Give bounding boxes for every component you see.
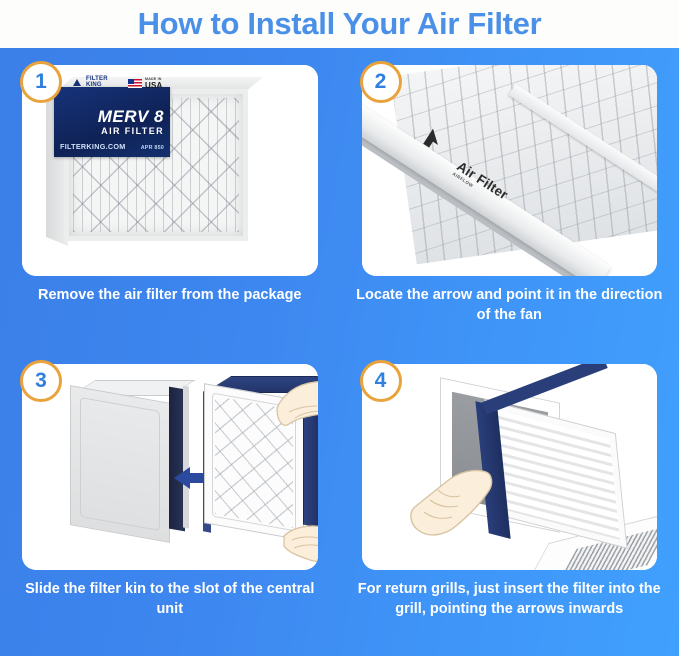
steps-grid: FILTER KING MADE IN USA ME [0, 48, 679, 656]
step-4: 4 For return grills, just insert the fil… [340, 352, 679, 656]
page-title: How to Install Your Air Filter [138, 6, 542, 42]
website-text: FILTERKING.COM [60, 142, 126, 151]
step-3-image [22, 364, 318, 570]
step-1-image: FILTER KING MADE IN USA ME [22, 65, 318, 276]
central-unit-illustration [70, 380, 190, 540]
brand-line-1: FILTER [86, 76, 108, 82]
step-4-card [362, 364, 658, 570]
step-4-number-badge: 4 [360, 360, 402, 402]
step-3-caption: Slide the filter kin to the slot of the … [14, 580, 326, 619]
unit-front-face [70, 385, 170, 543]
step-3-number-badge: 3 [20, 360, 62, 402]
apr-rating-text: APR 850 [141, 145, 164, 151]
made-in-usa-badge: MADE IN USA [128, 78, 163, 90]
brand-name: FILTER KING [86, 76, 108, 89]
filter-king-logo: FILTER KING [72, 76, 108, 89]
step-1: FILTER KING MADE IN USA ME [0, 48, 340, 352]
merv-label: MERV 8 AIR FILTER FILTERKING.COM APR 850 [54, 87, 170, 157]
step-1-number-badge: 1 [20, 61, 62, 103]
hand-inserting-filter-illustration [408, 462, 494, 542]
return-grill-illustration [490, 418, 635, 543]
usa-flag-icon [128, 79, 142, 88]
step-3-card [22, 364, 318, 570]
product-type-text: AIR FILTER [54, 126, 164, 136]
air-filter-product-photo: FILTER KING MADE IN USA ME [46, 77, 274, 252]
brand-line-2: KING [86, 82, 102, 88]
step-3: 3 Slide the filter kin to the slot of th… [0, 352, 340, 656]
step-2-card: Air Filter AIRFLOW [362, 65, 658, 276]
country-label: USA [145, 82, 163, 90]
step-1-caption: Remove the air filter from the package [14, 286, 326, 306]
made-in-usa-text: MADE IN USA [145, 78, 163, 90]
infographic-page: How to Install Your Air Filter [0, 0, 679, 656]
header-bar: How to Install Your Air Filter [0, 0, 679, 48]
step-2-number-badge: 2 [360, 61, 402, 103]
lower-hand-illustration [280, 522, 318, 564]
step-1-card: FILTER KING MADE IN USA ME [22, 65, 318, 276]
unit-slot-edge [183, 385, 189, 528]
step-2-image: Air Filter AIRFLOW [362, 65, 658, 276]
step-4-caption: For return grills, just insert the filte… [354, 580, 666, 619]
merv-rating-text: MERV 8 [54, 107, 164, 127]
step-2: Air Filter AIRFLOW 2 Locate the arrow an… [340, 48, 679, 352]
upper-hand-illustration [275, 378, 318, 430]
step-4-image [362, 364, 658, 570]
step-2-caption: Locate the arrow and point it in the dir… [354, 286, 666, 325]
crown-icon [72, 77, 83, 88]
